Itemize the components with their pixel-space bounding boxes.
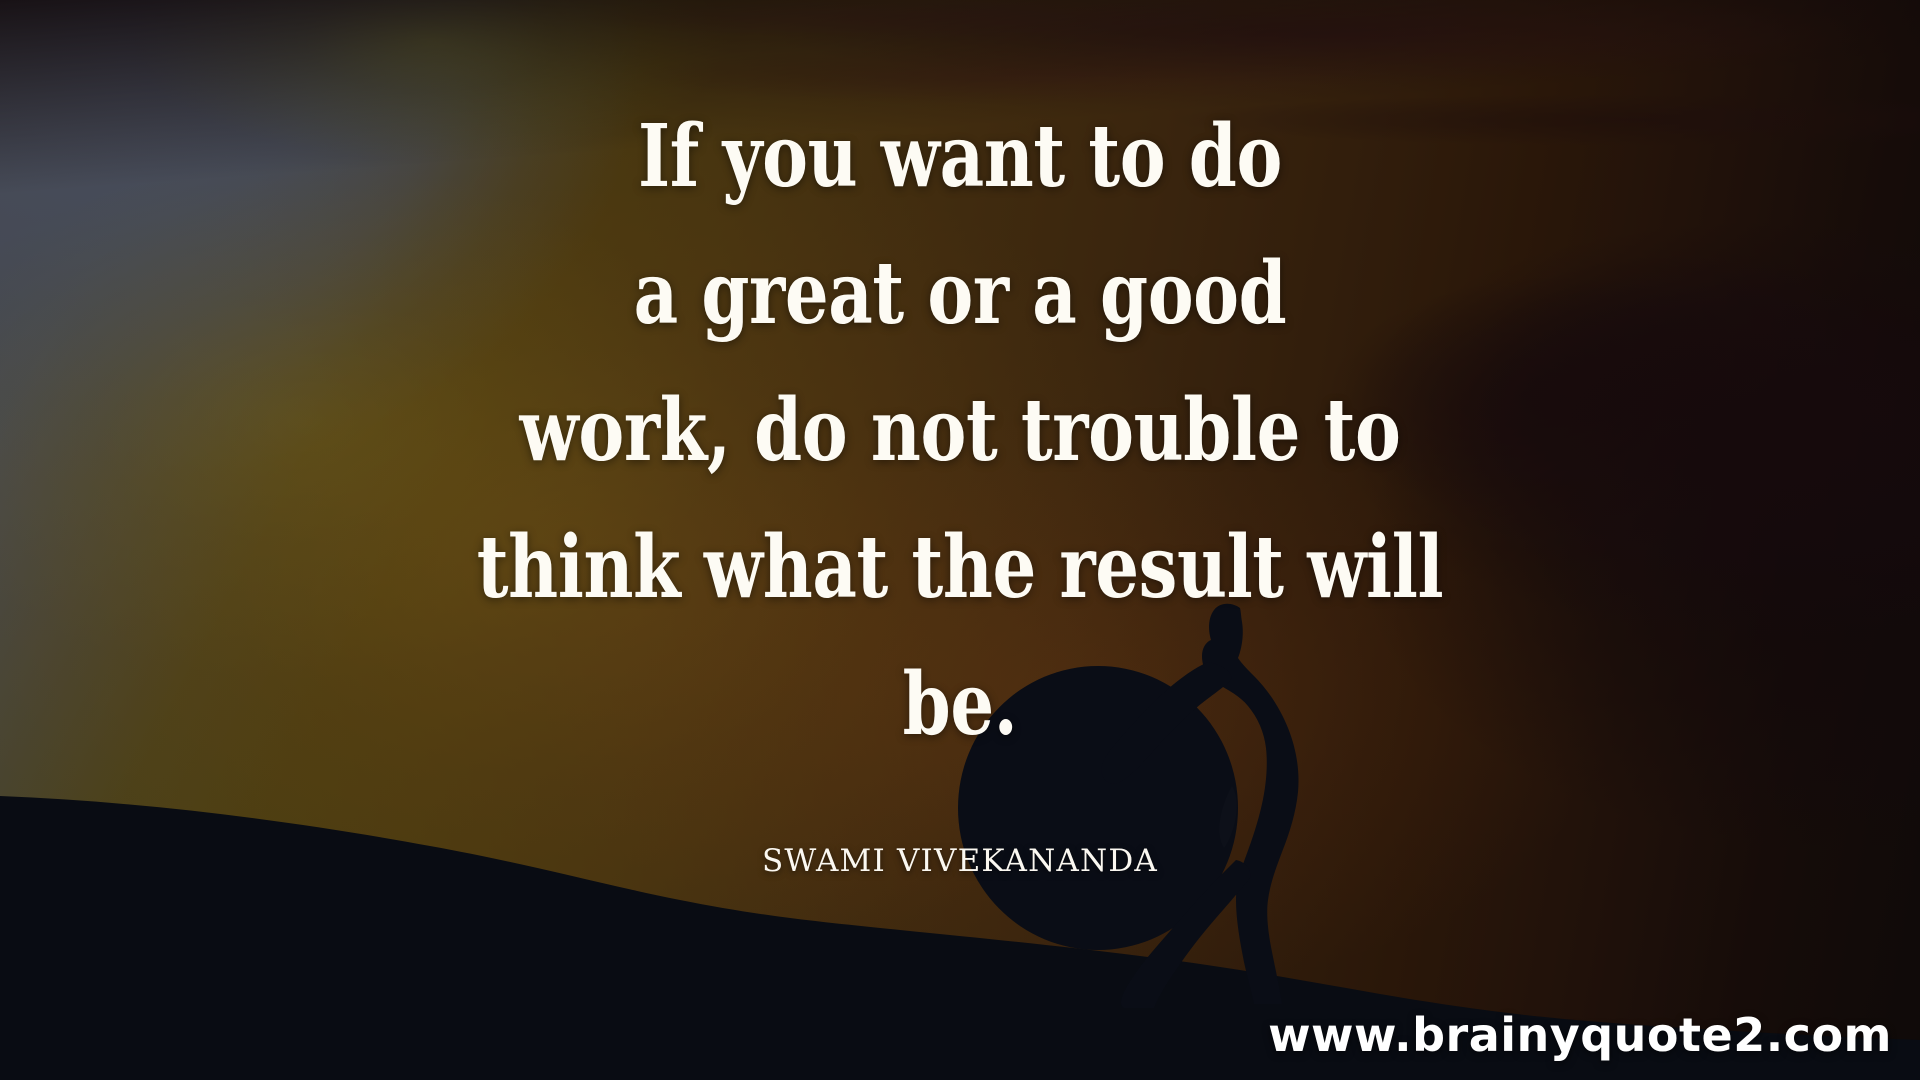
quote-line-3: work, do not trouble to xyxy=(192,362,1728,499)
quote-text-block: If you want to do a great or a good work… xyxy=(0,88,1920,773)
quote-author-attribution: SWAMI VIVEKANANDA xyxy=(0,843,1920,879)
quote-image-canvas: If you want to do a great or a good work… xyxy=(0,0,1920,1080)
quote-line-2: a great or a good xyxy=(192,225,1728,362)
site-watermark-url: www.brainyquote2.com xyxy=(1268,1008,1892,1062)
quote-line-4: think what the result will xyxy=(192,499,1728,636)
quote-line-5: be. xyxy=(192,636,1728,773)
quote-line-1: If you want to do xyxy=(192,88,1728,225)
